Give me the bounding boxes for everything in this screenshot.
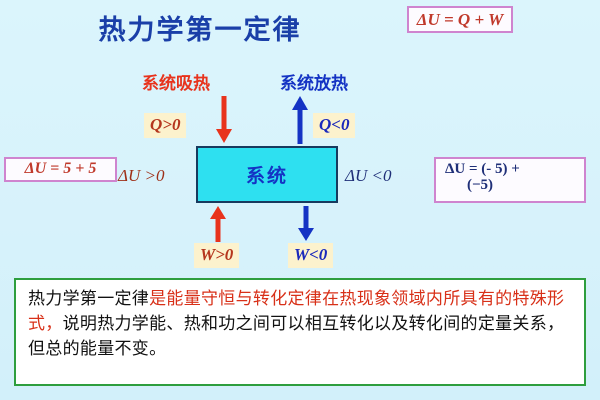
system-box-label: 系统 [246,161,288,188]
formula-right-line2: (−5) [445,178,584,194]
formula-right-line1: ΔU = (- 5) + [445,161,520,177]
arrow-heat-out-icon [292,96,308,144]
arrow-shaft [216,216,221,242]
arrow-head [298,228,314,241]
formula-first-law: ΔU = Q + W [407,6,513,33]
caption-system-releases-heat: 系统放热 [280,69,348,94]
system-box: 系统 [196,146,338,203]
slide-canvas: 热力学第一定律 ΔU = Q + W 系统吸热 系统放热 Q>0 Q<0 W>0… [0,0,600,400]
arrow-head [292,96,308,110]
page-title: 热力学第一定律 [0,8,400,47]
statement-line1-emphasis: 是能量守恒与转化定律在热现象领域 [149,289,426,309]
label-q-negative: Q<0 [313,113,355,138]
label-w-negative: W<0 [288,243,333,268]
formula-delta-u-positive-example: ΔU = 5 + 5 [4,157,117,182]
label-delta-u-positive: ΔU >0 [118,166,164,186]
label-q-positive: Q>0 [144,113,186,138]
label-w-positive: W>0 [194,243,239,268]
label-delta-u-negative: ΔU <0 [345,166,391,186]
statement-line2-text: 说明热力学能、热和功之间可 [63,314,288,334]
arrow-work-out-icon [298,206,314,242]
statement-box: 热力学第一定律是能量守恒与转化定律在热现象领域内所具有的特殊形式，说明热力学能、… [14,278,586,386]
arrow-work-in-icon [210,206,226,242]
caption-system-absorbs-heat: 系统吸热 [142,69,210,94]
arrow-shaft [222,96,227,132]
arrow-shaft [298,108,303,144]
statement-line1-subject: 热力学第一定律 [28,289,149,309]
arrow-head [216,129,232,143]
arrow-head [210,206,226,219]
arrow-heat-in-icon [216,96,232,144]
formula-delta-u-negative-example: ΔU = (- 5) + (−5) [434,157,586,203]
